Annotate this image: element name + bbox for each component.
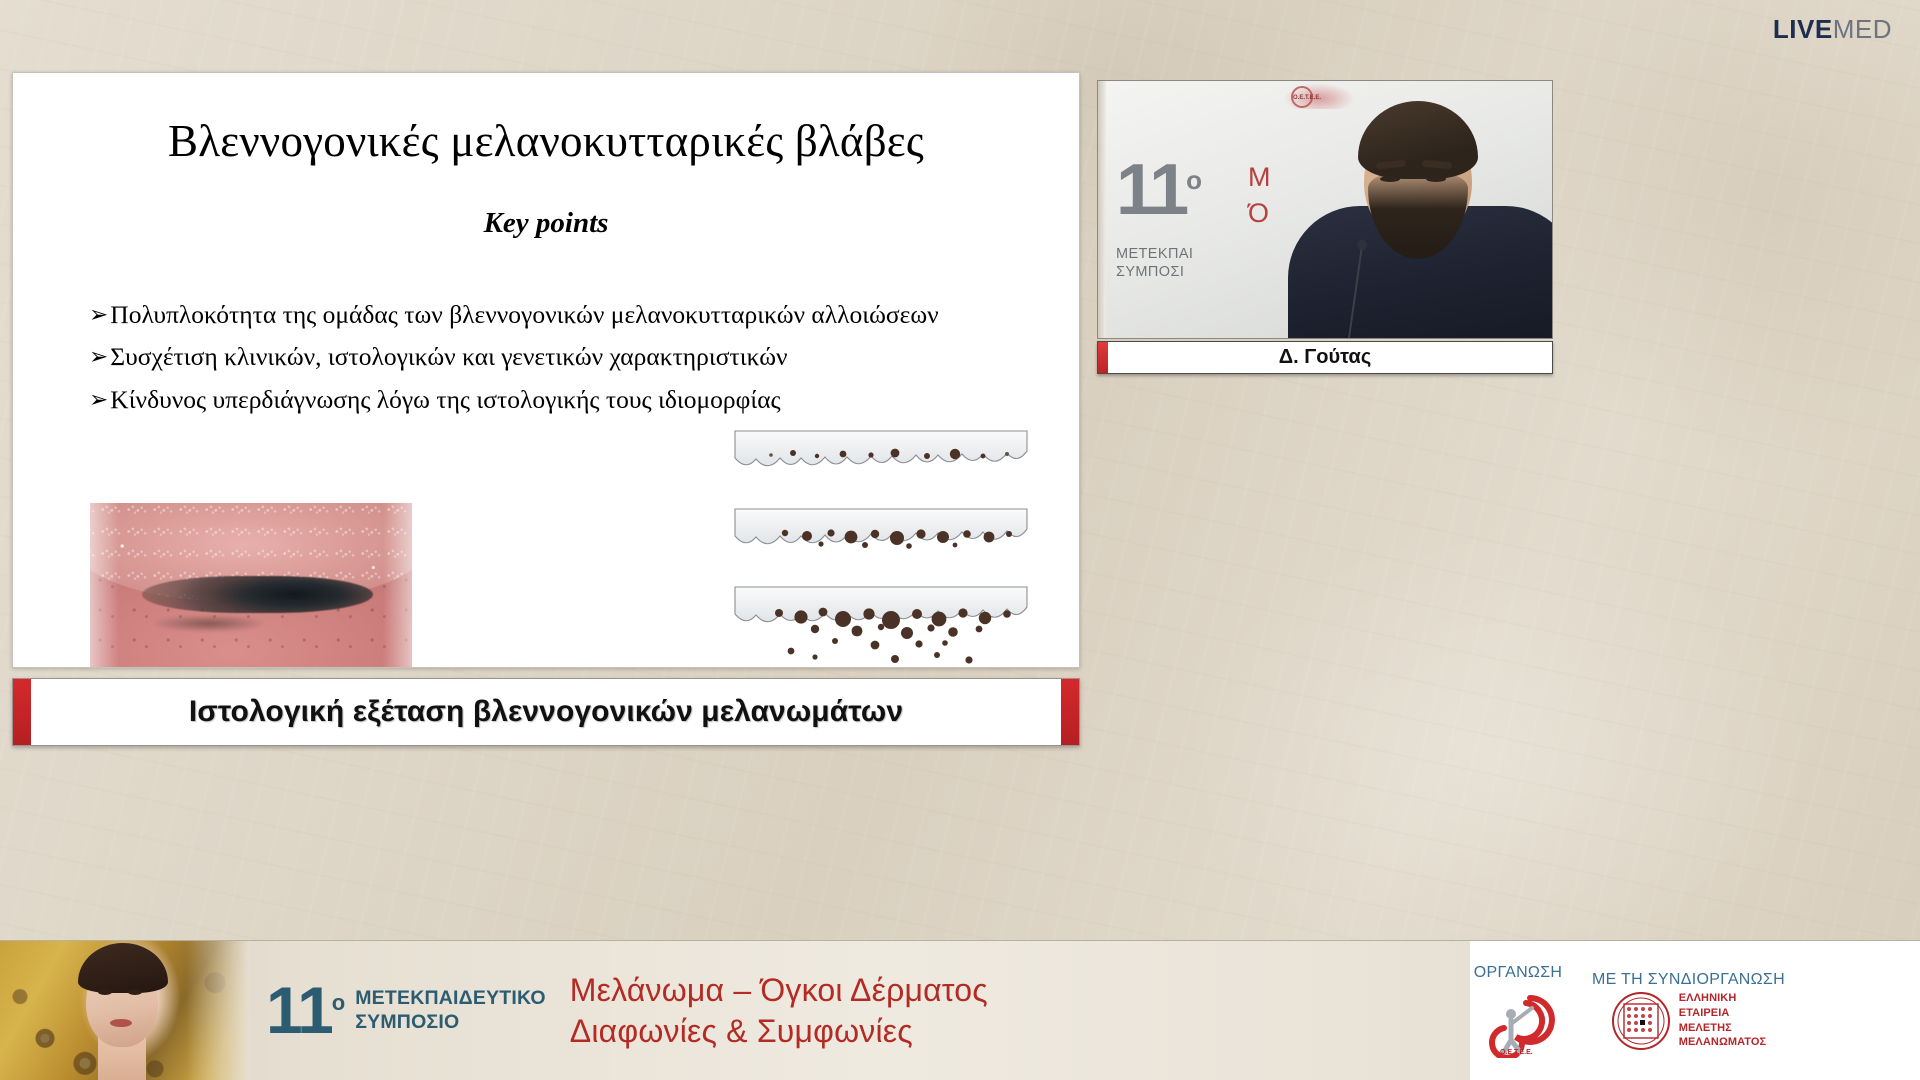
speaker-figure (1298, 81, 1553, 338)
footer-symposium-line2: ΣΥΜΠΟΣΙΟ (355, 1011, 546, 1034)
speaker-eye-right (1426, 176, 1446, 182)
coorganizer-name-line4: ΜΕΛΑΝΩΜΑΤΟΣ (1679, 1035, 1767, 1050)
coorganizer-name-line2: ΕΤΑΙΡΕΙΑ (1679, 1006, 1767, 1021)
organizer-label: ΟΡΓΑΝΩΣΗ (1474, 964, 1563, 982)
klimt-eye-left (98, 989, 112, 995)
klimt-eye-right (128, 989, 142, 995)
speaker-name: Δ. Γούτας (1108, 342, 1552, 373)
footer-edition-digits: 11 (266, 973, 332, 1047)
slide-subtitle: Key points (13, 207, 1079, 240)
footer-event-title: Μελάνωμα – Όγκοι Δέρματος Διαφωνίες & Συ… (546, 941, 1470, 1080)
bullet-text: Συσχέτιση κλινικών, ιστολογικών και γενε… (110, 336, 787, 378)
livemed-logo-med: MED (1833, 14, 1892, 44)
coorganizer-name-line3: ΜΕΛΕΤΗΣ (1679, 1021, 1767, 1036)
caption-accent-left (13, 679, 31, 745)
coorganizer-name-line1: ΕΛΛΗΝΙΚΗ (1679, 991, 1767, 1006)
backdrop-edition-digits: 11 (1116, 150, 1186, 230)
list-item: ➢ Κίνδυνος υπερδιάγνωσης λόγω της ιστολο… (89, 379, 1079, 421)
speaker-eye-left (1380, 176, 1400, 182)
livemed-logo-live: LIVE (1773, 14, 1833, 44)
caption-text: Ιστολογική εξέταση βλεννογονικών μελανωμ… (31, 679, 1061, 745)
bullet-arrow-icon: ➢ (89, 381, 108, 419)
backdrop-edition-number: 11o (1116, 159, 1202, 222)
presentation-viewer: LIVEMED Βλεννογονικές μελανοκυτταρικές β… (0, 0, 1920, 1080)
speaker-video-player[interactable]: Ο.Ε.Τ.Ε.Ε. 11o ΜΕΤΕΚΠΑΙ ΣΥΜΠΟΣΙ Μ Ό (1097, 80, 1553, 339)
bullet-arrow-icon: ➢ (89, 338, 108, 376)
livemed-logo: LIVEMED (1773, 16, 1892, 42)
backdrop-symposium-label: ΜΕΤΕΚΠΑΙ ΣΥΜΠΟΣΙ (1116, 246, 1193, 281)
backdrop-symposium-line1: ΜΕΤΕΚΠΑΙ (1116, 246, 1193, 264)
organizer-block: ΟΡΓΑΝΩΣΗ Ο.Ε.Τ.Ε.Ε. (1470, 964, 1566, 1058)
footer-symposium-label: ΜΕΤΕΚΠΑΙΔΕΥΤΙΚΟ ΣΥΜΠΟΣΙΟ (355, 987, 546, 1034)
coorganizer-label: ΜΕ ΤΗ ΣΥΝΔΙΟΡΓΑΝΩΣΗ (1592, 971, 1785, 989)
photo-shine-left (90, 503, 119, 668)
event-footer-banner: 11o ΜΕΤΕΚΠΑΙΔΕΥΤΙΚΟ ΣΥΜΠΟΣΙΟ Μελάνωμα – … (0, 940, 1920, 1080)
organizer-logo-row: Ο.Ε.Τ.Ε.Ε. (1470, 984, 1566, 1058)
clinical-photo (90, 503, 412, 668)
caption-accent-right (1061, 679, 1079, 745)
backdrop-title-line1: Μ (1248, 159, 1271, 195)
footer-edition-block: 11o ΜΕΤΕΚΠΑΙΔΕΥΤΙΚΟ ΣΥΜΠΟΣΙΟ (250, 941, 546, 1080)
backdrop-symposium-line2: ΣΥΜΠΟΣΙ (1116, 264, 1193, 282)
photo-shine-right (383, 503, 412, 668)
slide-panel[interactable]: Βλεννογονικές μελανοκυτταρικές βλάβες Ke… (12, 72, 1080, 668)
klimt-lips (110, 1019, 132, 1027)
list-item: ➢ Συσχέτιση κλινικών, ιστολογικών και γε… (89, 336, 1079, 378)
coorganizer-block: ΜΕ ΤΗ ΣΥΝΔΙΟΡΓΑΝΩΣΗ (1592, 971, 1785, 1051)
histology-stage-2 (735, 509, 1027, 549)
backdrop-title-line2: Ό (1248, 195, 1271, 231)
slide-figures (13, 423, 1079, 668)
slide-bullet-list: ➢ Πολυπλοκότητα της ομάδας των βλεννογον… (89, 294, 1079, 421)
oetee-logo-text: Ο.Ε.Τ.Ε.Ε. (1500, 1049, 1533, 1056)
list-item: ➢ Πολυπλοκότητα της ομάδας των βλεννογον… (89, 294, 1079, 336)
footer-organizers: ΟΡΓΑΝΩΣΗ Ο.Ε.Τ.Ε.Ε. ΜΕ (1470, 941, 1920, 1080)
histology-stage-3 (735, 587, 1027, 664)
coorganizer-name: ΕΛΛΗΝΙΚΗ ΕΤΑΙΡΕΙΑ ΜΕΛΕΤΗΣ ΜΕΛΑΝΩΜΑΤΟΣ (1679, 991, 1767, 1049)
footer-edition-number: 11o (266, 983, 345, 1037)
klimt-artwork (0, 941, 250, 1080)
photo-highlights (90, 503, 412, 668)
backdrop-edge (1098, 81, 1106, 338)
coorganizer-logo-row: ΕΛΛΗΝΙΚΗ ΕΤΑΙΡΕΙΑ ΜΕΛΕΤΗΣ ΜΕΛΑΝΩΜΑΤΟΣ (1611, 991, 1767, 1051)
footer-title-line2: Διαφωνίες & Συμφωνίες (570, 1011, 1470, 1052)
slide-caption-banner: Ιστολογική εξέταση βλεννογονικών μελανωμ… (12, 678, 1080, 746)
footer-symposium-line1: ΜΕΤΕΚΠΑΙΔΕΥΤΙΚΟ (355, 987, 546, 1010)
slide-title: Βλεννογονικές μελανοκυτταρικές βλάβες (13, 115, 1079, 167)
bullet-arrow-icon: ➢ (89, 296, 108, 334)
bullet-text: Κίνδυνος υπερδιάγνωσης λόγω της ιστολογι… (110, 379, 780, 421)
histology-stage-1 (735, 431, 1027, 466)
speaker-nameplate: Δ. Γούτας (1097, 341, 1553, 374)
backdrop-title-text: Μ Ό (1248, 159, 1271, 232)
backdrop-edition-ordinal: o (1186, 165, 1202, 195)
oetee-logo-icon: Ο.Ε.Τ.Ε.Ε. (1470, 984, 1566, 1058)
footer-edition-ordinal: o (332, 990, 345, 1015)
footer-title-line1: Μελάνωμα – Όγκοι Δέρματος (570, 970, 1470, 1011)
bullet-text: Πολυπλοκότητα της ομάδας των βλεννογονικ… (110, 294, 938, 336)
klimt-fade-edge (186, 941, 250, 1080)
nameplate-accent (1098, 342, 1108, 373)
eemm-logo-icon (1611, 991, 1671, 1051)
histology-schematic (731, 425, 1031, 668)
